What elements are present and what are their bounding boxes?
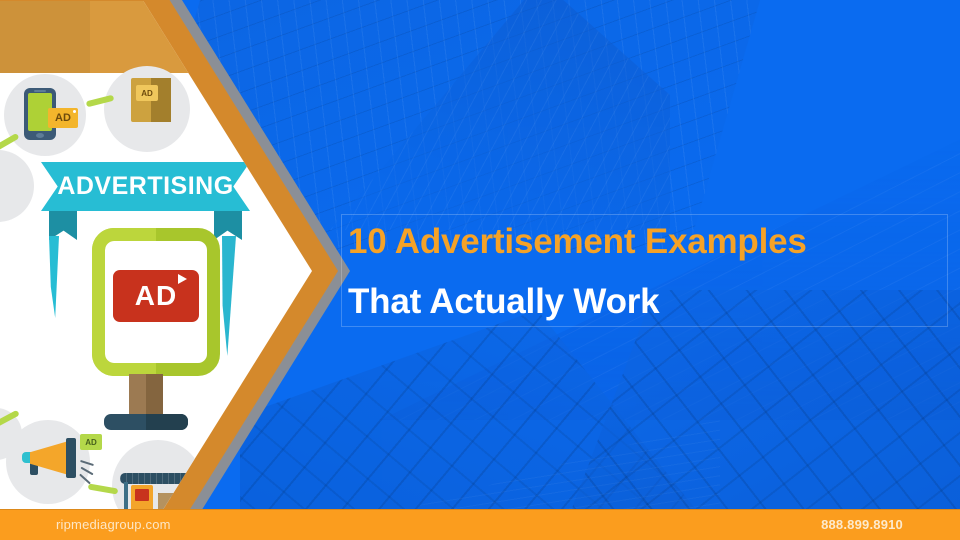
kiosk-post-left bbox=[124, 482, 128, 512]
megaphone-mouth bbox=[66, 438, 76, 478]
ribbon-streamer-right bbox=[222, 236, 236, 356]
phone-home-button bbox=[36, 133, 44, 138]
slide-canvas: AD AD ADVERTISING AD bbox=[0, 0, 960, 540]
advertising-ribbon-label: ADVERTISING bbox=[57, 172, 233, 201]
advertising-illustration: AD AD ADVERTISING AD bbox=[0, 1, 312, 540]
phone-speaker bbox=[34, 90, 46, 92]
headline-line-1: 10 Advertisement Examples bbox=[348, 222, 807, 262]
megaphone-ad-tag: AD bbox=[80, 434, 102, 450]
ribbon-streamer-left bbox=[49, 236, 59, 318]
hexagon-illustration-panel: AD AD ADVERTISING AD bbox=[0, 0, 350, 540]
advertising-ribbon: ADVERTISING bbox=[41, 162, 250, 211]
hexagon-inner: AD AD ADVERTISING AD bbox=[0, 1, 312, 540]
kiosk-sign-panel bbox=[135, 489, 149, 501]
play-icon bbox=[178, 274, 187, 284]
footer-phone[interactable]: 888.899.8910 bbox=[821, 517, 903, 532]
billboard-base-shade bbox=[146, 414, 188, 430]
footer-website[interactable]: ripmediagroup.com bbox=[56, 517, 171, 532]
phone-ad-tag: AD bbox=[48, 108, 78, 128]
billboard-post-shade bbox=[146, 374, 163, 418]
billboard-ad-label: AD bbox=[135, 280, 177, 312]
footer-divider bbox=[0, 509, 960, 510]
box-ad-tag: AD bbox=[136, 85, 158, 101]
footer-bar: ripmediagroup.com 888.899.8910 bbox=[0, 509, 960, 540]
headline-line-2: That Actually Work bbox=[348, 282, 659, 322]
icon-circle-left-upper bbox=[0, 150, 34, 222]
